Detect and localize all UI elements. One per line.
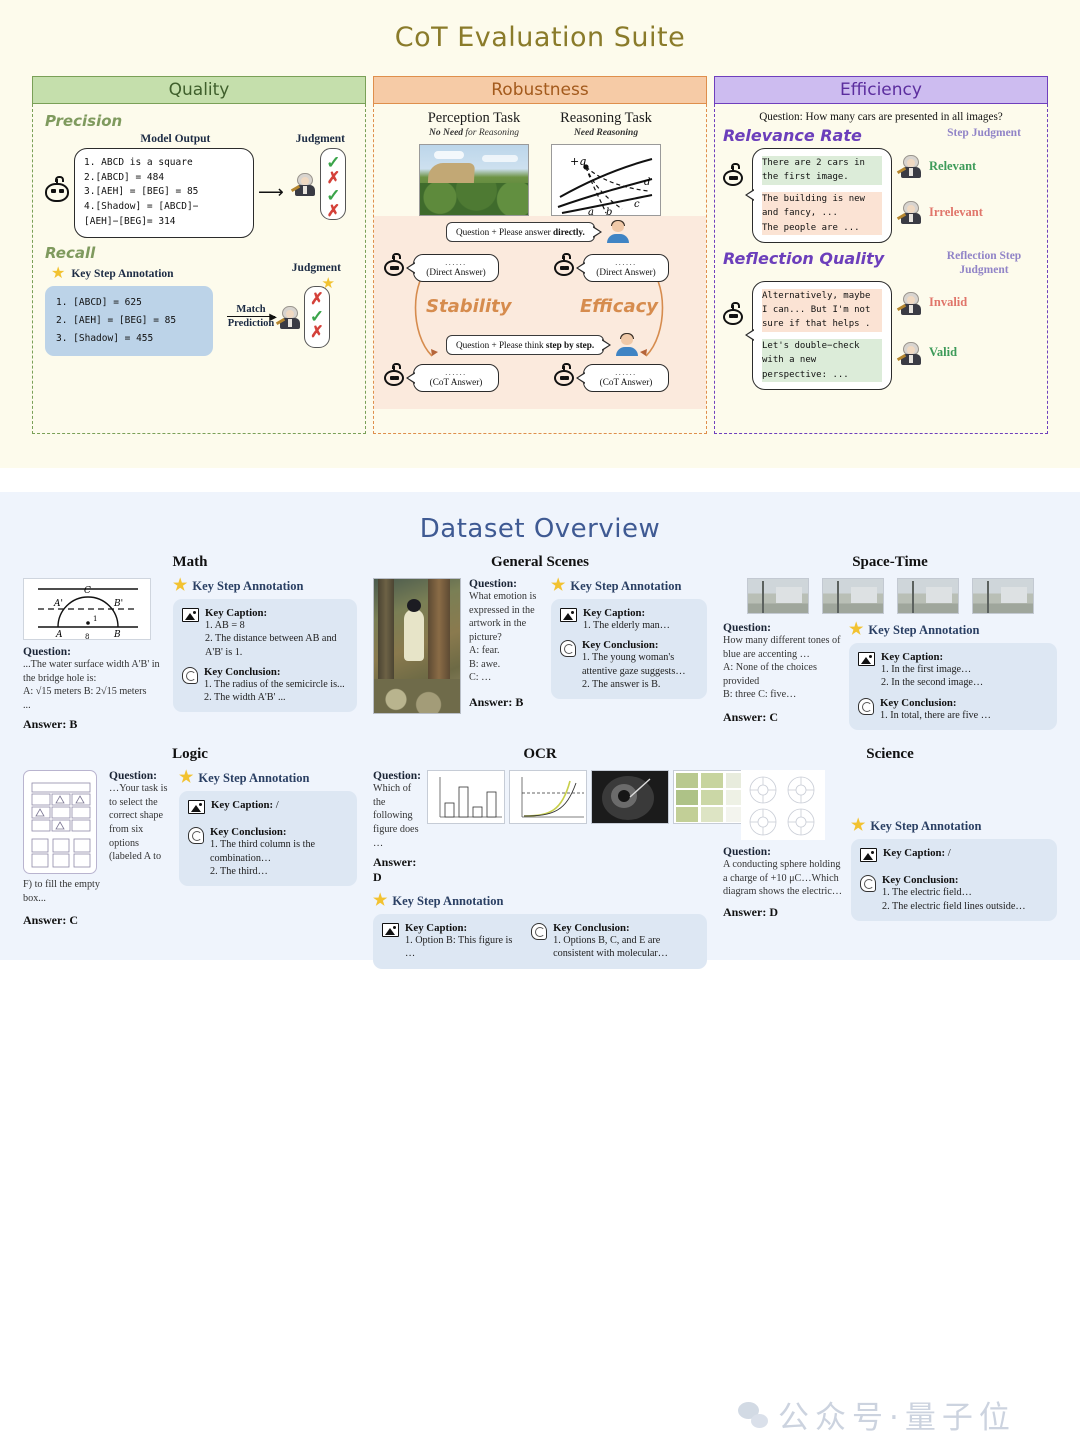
key-caption-item: Key Caption: 1. AB = 8 2. The distance b… [182,607,348,659]
star-icon: ★ [373,893,387,909]
arrow-right-icon: ⟶ [258,182,284,203]
robot-icon [45,183,69,202]
dataset-cell-space-time: Space-Time Question: How many different … [715,554,1065,732]
precision-label: Precision [45,112,353,130]
perception-direct-answer-bubble: ...... (Direct Answer) [413,254,499,282]
judge-icon [279,305,301,329]
panel-efficiency-header: Efficiency [714,76,1048,104]
space-time-thumbnail [897,578,959,614]
annotation-line: 2. [AEH] = [BEG] = 85 [56,312,202,330]
thinking-head-icon [182,667,198,684]
logic-question-tail: F) to fill the empty box... [23,878,101,905]
svg-text:c: c [634,199,640,210]
bubble-line: the first image. [762,170,882,184]
dataset-row: Logic [0,746,1080,968]
dataset-cell-general-scenes: General Scenes Question: What emotion is… [365,554,715,732]
answer-text: Answer: C [23,913,101,928]
star-icon: ★ [851,818,865,834]
relevance-bubble: There are 2 cars in the first image. The… [752,148,892,243]
ellipsis-dots: ...... [594,369,658,377]
reflection-quality-label: Reflection Quality [723,249,929,268]
bubble-line: The building is new [762,192,882,206]
judgment-label-2: Judgment [225,262,353,274]
model-output-label: Model Output [63,133,288,145]
dataset-cell-math: Math C A' B' [15,554,365,732]
model-output-line: 3.[AEH] = [BEG] = 85 [84,185,244,200]
svg-text:C: C [84,586,91,596]
relevant-label: Relevant [929,159,976,174]
space-time-thumbnail [822,578,884,614]
judge-icon [294,172,316,196]
perception-sub-rest: for Reasoning [463,128,519,138]
panel-robustness-body: Perception Task No Need for Reasoning Re… [373,104,707,434]
judge-icon [900,341,922,365]
watermark: 公众号·量子位 [738,1392,1016,1437]
key-conclusion-text: 1. The young woman's attentive gaze sugg… [582,651,698,691]
key-step-annotation-title: ★ Key Step Annotation [849,622,1057,638]
reasoning-example-diagram: +q a b c d [551,144,661,216]
robot-icon [384,260,404,276]
person-icon [616,334,638,356]
key-conclusion-item: Key Conclusion: 1. The third column is t… [188,826,348,878]
key-conclusion-item: Key Conclusion: 1. The electric field… 2… [860,874,1048,913]
question-text: How many different tones of blue are acc… [723,634,841,702]
star-icon: ★ [51,266,65,282]
invalid-label: Invalid [929,295,967,310]
image-icon [860,848,877,862]
key-conclusion-text: 1. Options B, C, and E are consistent wi… [553,934,698,961]
image-icon [188,800,205,814]
key-caption-item: Key Caption: 1. The elderly man… [560,607,698,632]
bubble-line: with a new [762,353,882,367]
category-title: OCR [373,746,707,763]
bubble-line: Let's double−check [762,339,882,353]
question-label: Question: [469,578,543,590]
cross-icon: ✗ [327,171,340,187]
recall-judgment-list: ✗ ✓ ✗ [304,286,330,348]
panel-quality-header: Quality [32,76,366,104]
panel-robustness-header: Robustness [373,76,707,104]
dataset-overview-section: Dataset Overview Math [0,492,1080,960]
key-conclusion-item: Key Conclusion: 1. In total, there are f… [858,697,1048,722]
category-title: Logic [23,746,357,763]
key-caption-text: 1. AB = 8 2. The distance between AB and… [205,619,348,659]
cross-icon: ✗ [310,325,323,341]
bubble-line: and fancy, ... [762,206,882,220]
recall-label: Recall [45,244,353,262]
key-conclusion-item: Key Conclusion: 1. The radius of the sem… [182,666,348,705]
reasoning-sub-emphasis: Need Reasoning [574,128,638,138]
general-scenes-artwork [373,578,461,714]
category-title: General Scenes [373,554,707,571]
image-icon [560,608,577,622]
check-icon: ✓ [326,154,340,171]
key-caption-item: Key Caption: / [860,847,1048,862]
question-label: Question: [373,770,421,782]
perception-task-title: Perception Task [419,110,529,127]
key-caption-item: Key Caption: 1. Option B: This figure is… [382,922,521,961]
space-time-thumbnail [747,578,809,614]
bubble-line: The people are ... [762,221,882,235]
key-conclusion-text: 1. In total, there are five … [880,709,991,722]
bubble-line: sure if that helps . [762,317,882,331]
thinking-head-icon [531,923,547,940]
ellipsis-dots: ...... [424,259,488,267]
space-time-thumbnail [972,578,1034,614]
annotation-line: 3. [Shadow] = 455 [56,330,202,348]
key-step-annotation-title: ★ Key Step Annotation [173,578,357,594]
reflection-judgment-line-1: Reflection Step [929,249,1039,263]
perception-cot-answer-bubble: ...... (CoT Answer) [413,364,499,392]
key-step-annotation-label: Key Step Annotation [870,819,981,834]
direct-answer-label: (Direct Answer) [596,267,655,277]
thinking-head-icon [860,875,876,892]
key-conclusion-text: 1. The radius of the semicircle is... 2.… [204,678,345,705]
cot-prompt-emphasis: step by step. [546,340,594,350]
question-label: Question: [23,646,163,658]
star-icon: ★ [849,622,863,638]
thinking-head-icon [858,698,874,715]
key-caption-label: Key Caption: [405,922,521,934]
key-caption-label: Key Caption: [583,607,670,619]
key-caption-text: 1. The elderly man… [583,619,670,632]
reflection-bubble: Alternatively, maybe I can... But I'm no… [752,281,892,390]
key-step-annotation-title: ★ Key Step Annotation [551,578,707,594]
svg-text:A': A' [53,599,63,609]
key-step-annotation-box: Key Caption: / Key Conclusion: 1. The el… [851,839,1057,921]
perception-sub-emphasis: No Need [429,128,463,138]
robot-icon [554,260,574,276]
key-caption-label: Key Caption: [881,651,983,663]
perception-task: Perception Task No Need for Reasoning [419,110,529,216]
ocr-thumbnail-line-chart [509,770,587,824]
svg-text:+q: +q [570,155,586,168]
cot-answer-label: (CoT Answer) [430,377,483,387]
key-conclusion-item: Key Conclusion: 1. The young woman's att… [560,639,698,691]
key-caption-item: Key Caption: 1. In the first image… 2. I… [858,651,1048,690]
question-text: What emotion is expressed in the artwork… [469,590,543,685]
panel-quality-body: Precision Model Output 1. ABCD is a squa… [32,104,366,434]
cot-answer-label: (CoT Answer) [600,377,653,387]
dataset-cell-science: Science [715,746,1065,968]
reasoning-cot-answer-bubble: ...... (CoT Answer) [583,364,669,392]
robot-icon [723,170,743,186]
key-step-annotation-label: Key Step Annotation [71,268,173,280]
judge-icon [900,200,922,224]
judge-icon [900,154,922,178]
direct-prompt-text: Question + Please answer [456,227,553,237]
step-judgment-label: Step Judgment [929,126,1039,140]
bubble-line: perspective: ... [762,368,882,382]
key-step-annotation-box: Key Caption: 1. Option B: This figure is… [373,914,707,969]
key-step-annotation-box: Key Caption: / Key Conclusion: 1. The th… [179,791,357,886]
key-caption-text: 1. Option B: This figure is … [405,934,521,961]
model-output-line: 1. ABCD is a square [84,156,244,171]
category-title: Space-Time [723,554,1057,571]
key-step-annotation-label: Key Step Annotation [198,771,309,786]
star-icon: ★ [179,770,193,786]
efficacy-label: Efficacy [580,296,658,317]
reasoning-direct-answer-bubble: ...... (Direct Answer) [583,254,669,282]
key-caption-text: / [948,847,951,859]
match-prediction-arrow: Match ▶ Prediction [225,304,277,329]
key-caption-text: / [276,799,279,811]
direct-prompt-bubble: Question + Please answer directly. [446,222,595,242]
cot-evaluation-suite-section: CoT Evaluation Suite Quality Precision M… [0,0,1080,468]
stability-label: Stability [426,296,511,317]
star-icon: ★ [551,578,565,594]
question-text: …Your task is to select the correct shap… [109,782,171,863]
dataset-row: Math C A' B' [0,554,1080,732]
key-step-annotation-box: Key Caption: 1. The elderly man… Key Con… [551,599,707,699]
reasoning-task-subtitle: Need Reasoning [551,128,661,138]
robot-icon [723,309,743,325]
robot-icon [384,370,404,386]
key-caption-item: Key Caption: / [188,799,348,814]
image-icon [382,923,399,937]
key-step-annotation-title: ★ Key Step Annotation [373,893,707,909]
annotation-line: 1. [ABCD] = 625 [56,294,202,312]
panel-efficiency-body: Question: How many cars are presented in… [714,104,1048,434]
key-step-annotation-title: ★ Key Step Annotation [179,770,357,786]
key-conclusion-label: Key Conclusion: [582,639,698,651]
answer-text: Answer: B [469,695,543,710]
judgment-label: Judgment [288,133,353,145]
reflection-judgment-line-2: Judgment [929,263,1039,277]
dataset-cell-logic: Logic [15,746,365,968]
svg-text:A: A [55,630,63,640]
category-title: Math [23,554,357,571]
key-step-annotation-title: ★ Key Step Annotation [851,818,1057,834]
person-icon [607,221,629,243]
evaluation-panels: Quality Precision Model Output 1. ABCD i… [0,76,1080,434]
direct-answer-label: (Direct Answer) [426,267,485,277]
dataset-overview-title: Dataset Overview [0,492,1080,544]
image-icon [858,652,875,666]
category-title: Science [723,746,1057,763]
efficiency-question: Question: How many cars are presented in… [715,104,1047,126]
dataset-grid: Math C A' B' [0,554,1080,969]
answer-text: Answer: C [723,710,841,725]
thinking-head-icon [560,640,576,657]
valid-label: Valid [929,345,957,360]
key-step-annotation-label: Key Step Annotation [868,623,979,638]
svg-text:1: 1 [93,615,97,623]
math-figure: C A' B' A B 1 8 [23,578,151,640]
key-caption-label-text: Key Caption: [883,847,945,859]
star-icon: ★ [173,578,187,594]
key-conclusion-label: Key Conclusion: [553,922,698,934]
perception-example-image [419,144,529,216]
relevance-rate-label: Relevance Rate [723,126,929,145]
model-output-line: [AEH]−[BEG]= 314 [84,215,244,230]
task-examples: Perception Task No Need for Reasoning Re… [374,104,706,216]
ocr-thumbnail-bar-chart [427,770,505,824]
key-conclusion-text: 1. The electric field… 2. The electric f… [882,886,1026,913]
science-figure [741,770,825,840]
question-text: ...The water surface width A'B' in the b… [23,658,163,712]
cross-icon: ✗ [327,204,340,220]
key-caption-label: Key Caption: [205,607,348,619]
model-output-box: 1. ABCD is a square 2.[ABCD] = 484 3.[AE… [74,148,254,238]
key-caption-label-text: Key Caption: [211,799,273,811]
direct-prompt-emphasis: directly. [553,227,585,237]
reasoning-task-title: Reasoning Task [551,110,661,127]
svg-text:B: B [113,630,121,640]
key-caption-text: 1. In the first image… 2. In the second … [881,663,983,690]
panel-efficiency: Efficiency Question: How many cars are p… [714,76,1048,434]
robot-icon [554,370,574,386]
key-conclusion-label: Key Conclusion: [880,697,991,709]
key-step-annotation-label: Key Step Annotation [392,894,503,909]
cot-prompt-bubble: Question + Please think step by step. [446,335,604,355]
robustness-flow: Question + Please answer directly. .....… [374,216,706,409]
answer-text: Answer: D [723,905,843,920]
ocr-thumbnail-mri [591,770,669,824]
question-text: A conducting sphere holding a charge of … [723,858,843,899]
question-label: Question: [723,846,843,858]
watermark-text: 公众号·量子位 [778,1392,1016,1437]
ellipsis-dots: ...... [594,259,658,267]
cot-prompt-text: Question + Please think [456,340,546,350]
key-caption-label: Key Caption: / [883,847,951,862]
answer-text: Answer: B [23,717,163,732]
bubble-line: There are 2 cars in [762,156,882,170]
check-icon: ✓ [310,308,324,325]
key-conclusion-text: 1. The third column is the combination… … [210,838,348,878]
key-conclusion-label: Key Conclusion: [210,826,348,838]
image-icon [182,608,199,622]
question-label: Question: [109,770,171,782]
thinking-head-icon [188,827,204,844]
panel-robustness: Robustness Perception Task No Need for R… [373,76,707,434]
reflection-step-judgment-label: Reflection Step Judgment [929,249,1039,278]
key-step-annotation-label: Key Step Annotation [192,579,303,594]
logic-figure [23,770,97,874]
key-conclusion-label: Key Conclusion: [882,874,1026,886]
answer-text: Answer: D [373,855,421,885]
irrelevant-label: Irrelevant [929,205,983,220]
precision-judgment-list: ✓ ✗ ✓ ✗ [320,148,346,220]
key-conclusion-item: Key Conclusion: 1. Options B, C, and E a… [531,922,698,961]
key-conclusion-label: Key Conclusion: [204,666,345,678]
key-step-annotation-label: Key Step Annotation [570,579,681,594]
model-output-line: 4.[Shadow] = [ABCD]− [84,200,244,215]
svg-text:8: 8 [85,633,89,641]
question-text: Which of the following figure does … [373,782,421,850]
svg-text:B': B' [113,599,123,609]
wechat-logo-icon [738,1402,768,1428]
reasoning-task: Reasoning Task Need Reasoning [551,110,661,216]
judge-icon [900,291,922,315]
check-icon: ✓ [326,187,340,204]
key-step-annotation-box: 1. [ABCD] = 625 2. [AEH] = [BEG] = 85 3.… [45,286,213,356]
suite-title: CoT Evaluation Suite [0,0,1080,53]
question-label: Question: [723,622,841,634]
perception-task-subtitle: No Need for Reasoning [419,128,529,138]
bubble-line: Alternatively, maybe [762,289,882,303]
key-caption-label: Key Caption: / [211,799,279,814]
dataset-cell-ocr: OCR Question: Which of the following fig… [365,746,715,968]
bubble-line: I can... But I'm not [762,303,882,317]
key-step-annotation-box: Key Caption: 1. AB = 8 2. The distance b… [173,599,357,712]
star-icon: ★ [322,277,335,292]
model-output-line: 2.[ABCD] = 484 [84,171,244,186]
cross-icon: ✗ [310,292,323,308]
ellipsis-dots: ...... [424,369,488,377]
svg-text:d: d [644,177,650,188]
key-step-annotation-box: Key Caption: 1. In the first image… 2. I… [849,643,1057,730]
panel-quality: Quality Precision Model Output 1. ABCD i… [32,76,366,434]
